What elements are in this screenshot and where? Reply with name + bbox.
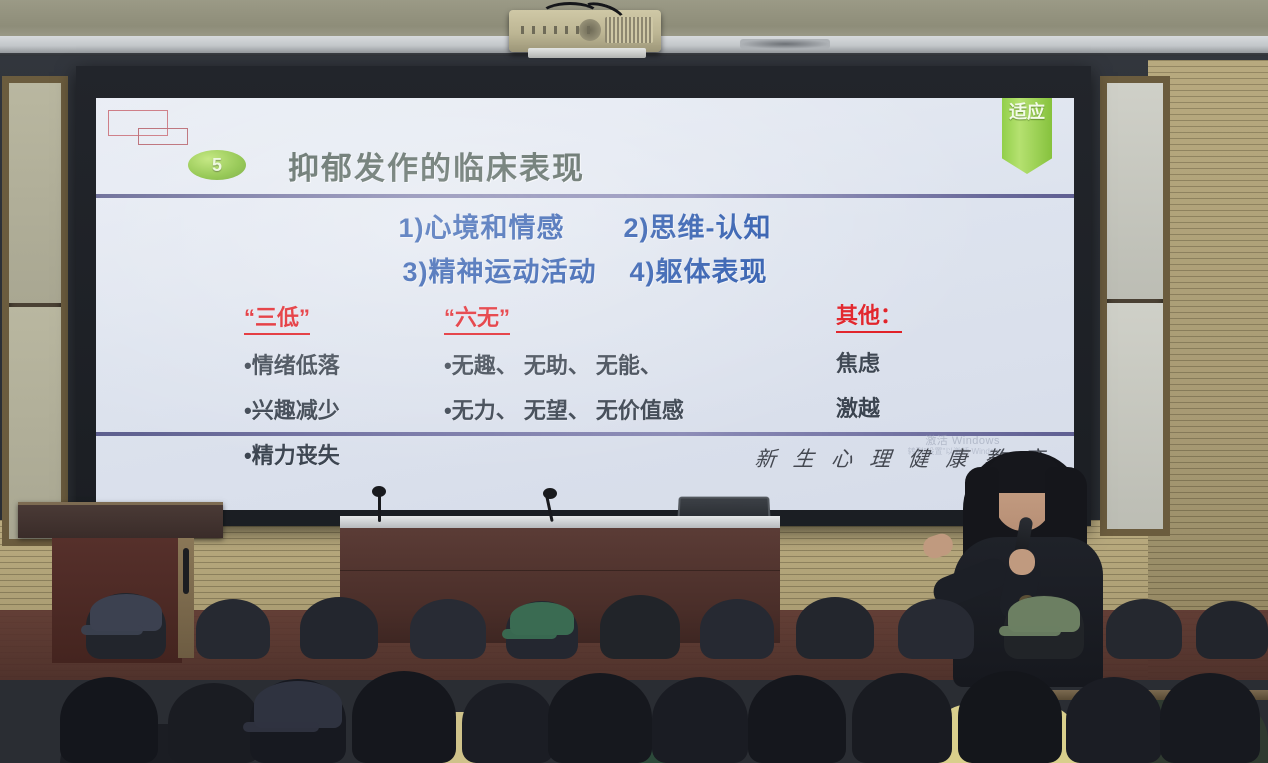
column-heading: “三低” <box>244 300 310 335</box>
panel-pane-upper <box>9 83 61 303</box>
column-item: •无力、 无望、 无价值感 <box>444 393 684 425</box>
column-heading: 其他： <box>836 298 902 333</box>
slide-title-row: 5 抑郁发作的临床表现 <box>96 138 1074 192</box>
column-item: •精力丧失 <box>244 438 340 470</box>
headline-2-left: 3)精神运动活动 <box>402 257 596 287</box>
headline-1-right: 2)思维-认知 <box>624 213 772 243</box>
headline-row-1: 1)心境和情感 2)思维-认知 <box>96 206 1074 245</box>
headline-2-right: 4)躯体表现 <box>630 257 768 287</box>
headline-row-2: 3)精神运动活动 4)躯体表现 <box>96 250 1074 289</box>
audience-cap <box>254 681 342 728</box>
column-others: 其他： 焦虑 激越 <box>836 298 902 423</box>
projector-mount-plate <box>528 48 646 58</box>
headline-1-left: 1)心境和情感 <box>398 213 564 243</box>
panel-pane-upper <box>1107 83 1163 299</box>
podium-top <box>18 502 223 538</box>
audience-head <box>60 677 158 763</box>
ceiling-vent <box>740 39 830 49</box>
audience-head <box>652 677 748 763</box>
audience-head <box>462 683 554 763</box>
column-item: •兴趣减少 <box>244 393 340 425</box>
presenter-hand-gesturing <box>920 531 955 561</box>
audience-head <box>548 673 652 763</box>
audience-head <box>1066 677 1162 763</box>
presentation-table-top <box>340 516 780 528</box>
side-whiteboard-left <box>2 76 68 546</box>
column-item: •情绪低落 <box>244 348 340 380</box>
audience-head <box>352 671 456 763</box>
column-six-nones: “六无” •无趣、 无助、 无能、 •无力、 无望、 无价值感 <box>444 300 684 425</box>
table-microphone-head-1 <box>372 486 386 497</box>
audience-head <box>958 671 1062 763</box>
slide-title: 抑郁发作的临床表现 <box>288 143 585 188</box>
slide-number-badge: 5 <box>188 150 246 180</box>
audience-head <box>748 675 846 763</box>
column-item: 激越 <box>836 391 902 423</box>
column-item: •无趣、 无助、 无能、 <box>444 348 684 380</box>
table-microphone-head-2 <box>543 488 557 499</box>
audience-front-row <box>0 563 1268 763</box>
divider-top <box>96 194 1074 198</box>
ribbon-label: 适应 <box>1009 102 1045 123</box>
audience-head <box>1160 673 1260 763</box>
column-three-lows: “三低” •情绪低落 •兴趣减少 •精力丧失 <box>244 300 340 470</box>
audience-head <box>852 673 952 763</box>
lecture-hall-scene: 适应 5 抑郁发作的临床表现 1)心境和情感 2)思维-认知 3)精神运动活动 … <box>0 0 1268 763</box>
projector-buttons <box>521 26 591 34</box>
column-item: 焦虑 <box>836 346 902 378</box>
column-heading: “六无” <box>444 300 510 335</box>
